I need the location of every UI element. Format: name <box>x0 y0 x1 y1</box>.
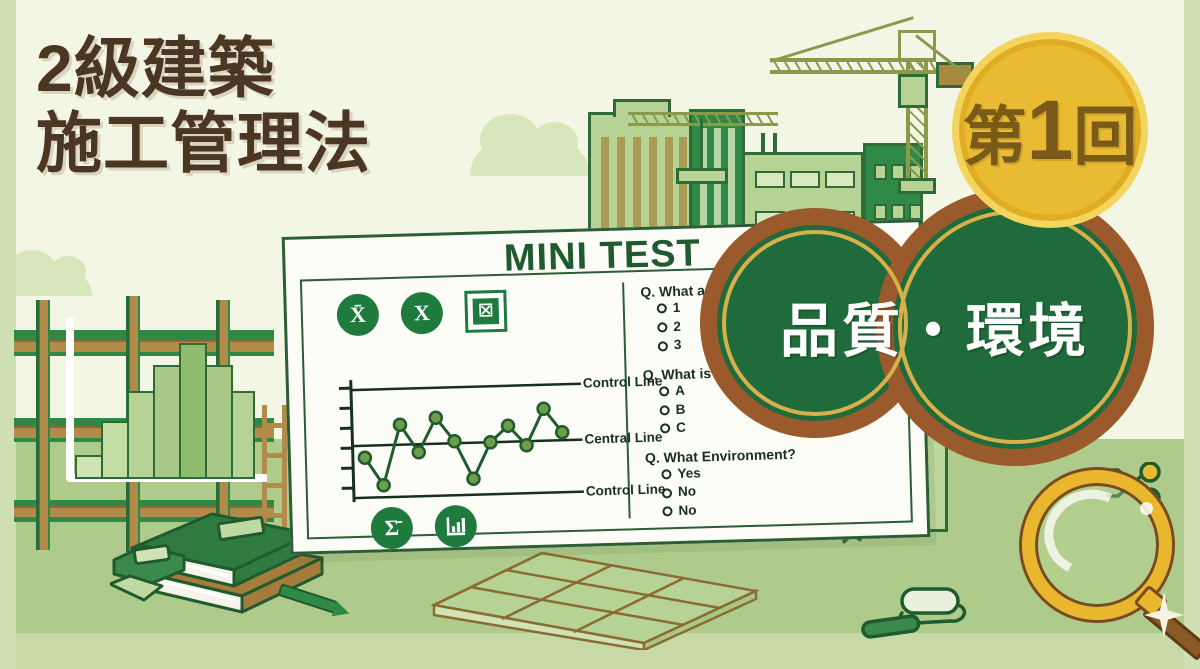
x-chart-icon[interactable]: Χ <box>400 292 443 335</box>
radio-icon[interactable] <box>657 304 667 314</box>
episode-prefix: 第 <box>963 101 1027 173</box>
option-label: A <box>675 382 685 401</box>
boxed-chart-icon[interactable]: ☒ <box>464 290 507 333</box>
option-label: Yes <box>677 464 701 483</box>
option-label: No <box>678 483 697 502</box>
x-bar-glyph: X̄ <box>350 302 367 328</box>
bar-chart-icon[interactable] <box>434 505 477 548</box>
floor-tile-panel-icon <box>430 545 760 650</box>
poster-canvas: MINI TEST X̄ Χ ☒ <box>0 0 1200 669</box>
x-chart-glyph: Χ <box>414 300 431 326</box>
sigma-icon[interactable]: Σ̄ <box>370 506 413 549</box>
option-label: B <box>675 400 685 419</box>
radio-icon[interactable] <box>657 322 667 332</box>
title-line-1: 2級建築 <box>36 36 371 101</box>
radio-icon[interactable] <box>660 405 670 415</box>
central-line <box>353 440 583 446</box>
episode-number: 1 <box>1027 83 1074 177</box>
control-chart-points <box>357 402 569 492</box>
control-chart-svg <box>331 369 605 506</box>
option-label: 2 <box>673 318 681 337</box>
radio-icon[interactable] <box>660 424 670 434</box>
option-label: 3 <box>674 336 682 355</box>
histogram-icon <box>62 318 272 488</box>
upper-control-line <box>351 384 581 390</box>
paint-roller-icon <box>860 585 980 660</box>
bar-chart-glyph <box>445 515 468 538</box>
option-label: 1 <box>673 299 681 318</box>
episode-suffix: 回 <box>1073 101 1137 173</box>
radio-icon[interactable] <box>662 488 672 498</box>
radio-icon[interactable] <box>662 507 672 517</box>
radio-icon[interactable] <box>659 386 669 396</box>
boxed-chart-glyph: ☒ <box>472 298 499 325</box>
theme-badge-label: 品質・環境 <box>700 284 1170 368</box>
option-label: C <box>676 419 686 438</box>
radio-icon[interactable] <box>661 469 671 479</box>
episode-coin-label: 第1回 <box>963 82 1138 179</box>
x-bar-icon[interactable]: X̄ <box>336 293 379 336</box>
radio-icon[interactable] <box>658 341 668 351</box>
chart-icon-row-top: X̄ Χ ☒ <box>336 290 507 337</box>
option-label: No <box>678 502 697 521</box>
title-line-2: 施工管理法 <box>36 111 371 176</box>
page-title: 2級建築 施工管理法 <box>36 36 371 175</box>
lower-control-line <box>354 492 584 498</box>
cloud-icon <box>470 140 590 176</box>
theme-badge: 品質・環境 <box>700 188 1170 488</box>
control-chart: Control Line Central Line Control Line <box>331 369 605 506</box>
sigma-glyph: Σ̄ <box>384 515 399 541</box>
chart-icon-row-bottom: Σ̄ <box>370 505 477 550</box>
episode-coin-badge: 第1回 <box>952 32 1148 228</box>
